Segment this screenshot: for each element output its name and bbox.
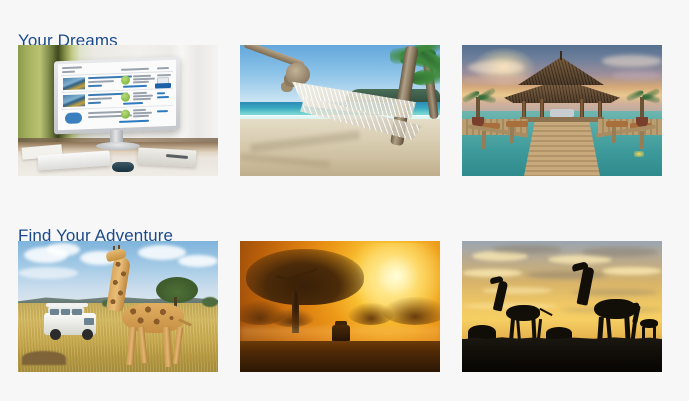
hut-floor — [520, 117, 604, 122]
cloud — [18, 267, 78, 279]
screen-rate-link — [123, 85, 147, 88]
shrub — [270, 309, 314, 327]
cloud — [612, 71, 662, 80]
page-root: Your Dreams — [0, 0, 689, 401]
screen-action-link-1 — [157, 92, 165, 94]
railing-post — [640, 131, 644, 149]
cloud — [46, 243, 80, 256]
van-window — [72, 309, 82, 315]
shrub — [382, 297, 440, 325]
pier-walkway — [524, 122, 600, 176]
cloud — [468, 61, 524, 74]
scene-desk-monitor — [18, 45, 218, 176]
dreams-tile-1[interactable] — [18, 45, 218, 176]
screen-title-bar — [62, 66, 82, 69]
scene-beach-hammock — [240, 45, 440, 176]
railing-post — [510, 127, 514, 143]
screen-row-sub — [88, 80, 114, 83]
screen-row-sub — [88, 97, 112, 100]
screen-rate-line-2 — [133, 112, 152, 115]
screen-sort-bar — [62, 71, 75, 73]
scene-giraffe-silhouettes — [462, 241, 662, 372]
screen-result-row-3 — [61, 106, 173, 126]
screen-row-title — [88, 111, 122, 114]
screen-row-thumbnail — [63, 94, 85, 107]
giraffe-ossicone — [118, 245, 120, 249]
cloud — [582, 247, 658, 257]
roof-spire — [560, 51, 562, 60]
scene-safari-giraffe-van — [18, 241, 218, 372]
ground-silhouette — [462, 339, 662, 372]
dreams-tile-3[interactable] — [462, 45, 662, 176]
screen-rating-badge — [121, 76, 130, 85]
screen-row-link — [88, 102, 101, 104]
cloud — [462, 269, 522, 277]
bush-silhouette — [546, 327, 572, 339]
screen-chat-bubble-icon — [65, 112, 82, 124]
monitor-stand-base — [96, 142, 140, 150]
giraffe-ossicone — [113, 246, 115, 250]
screen-action-label — [157, 74, 171, 77]
cloud — [482, 287, 552, 294]
ground-silhouette — [240, 341, 440, 372]
adventure-tile-2[interactable] — [240, 241, 440, 372]
screen-row-thumbnail — [63, 77, 85, 90]
bush-silhouette — [468, 325, 496, 339]
scene-pier-tiki-hut — [462, 45, 662, 176]
van-wheel — [82, 329, 93, 340]
van-window — [61, 309, 70, 315]
cloud — [526, 271, 606, 279]
hammock-knot — [286, 63, 310, 85]
screen-rate-line-3 — [133, 115, 149, 118]
screen-row-link — [88, 85, 102, 88]
bush — [202, 297, 218, 307]
van-wheel — [50, 329, 61, 340]
van-window — [50, 309, 59, 315]
railing-post — [612, 127, 616, 143]
dreams-tile-2[interactable] — [240, 45, 440, 176]
screen-col-availability — [121, 68, 149, 71]
screen-primary-button — [155, 83, 171, 89]
screen-rating-badge — [121, 93, 130, 102]
screen-rate-line-3 — [133, 98, 151, 101]
cloud — [602, 267, 662, 275]
dirt-mound — [22, 351, 66, 365]
cloud — [492, 245, 562, 254]
cloud — [178, 255, 218, 267]
hut-post — [540, 99, 544, 119]
deck-lamp-glow — [634, 151, 644, 157]
scene-acacia-sunset — [240, 241, 440, 372]
screen-rating-badge — [121, 110, 130, 119]
hut-post — [580, 99, 584, 119]
screen-action-link-1 — [157, 110, 168, 112]
screen-col-action — [157, 67, 169, 69]
mouse — [112, 162, 134, 172]
cloud — [602, 55, 662, 67]
dining-table — [550, 109, 574, 117]
van-windshield — [84, 318, 94, 325]
screen-action-link-2 — [157, 96, 169, 98]
screen-rate-link — [123, 102, 143, 105]
screen-footer-link — [119, 120, 149, 123]
safari-vehicle — [332, 325, 350, 341]
monitor-screen — [58, 60, 176, 131]
acacia-tree — [156, 277, 198, 303]
adventure-tile-3[interactable] — [462, 241, 662, 372]
adventure-tile-1[interactable] — [18, 241, 218, 372]
screen-rate-line-3 — [133, 81, 149, 84]
sun-lounger — [606, 121, 628, 127]
railing-post — [482, 131, 486, 149]
acacia-canopy — [246, 249, 364, 305]
